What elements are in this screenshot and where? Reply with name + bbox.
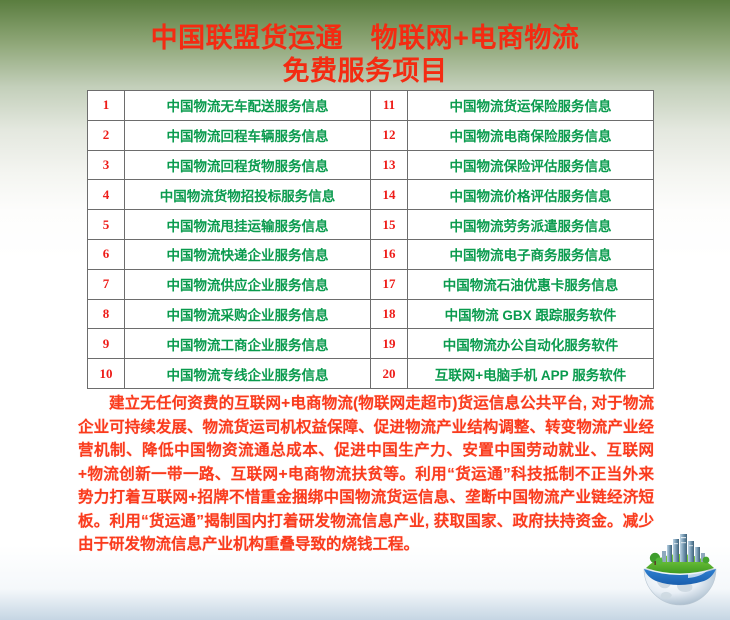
service-number-left: 8 [88,299,125,329]
title-line-1: 中国联盟货运通 物联网+电商物流 [0,22,730,55]
table-row: 7 中国物流供应企业服务信息 17 中国物流石油优惠卡服务信息 [88,269,654,299]
table-row: 3 中国物流回程货物服务信息 13 中国物流保险评估服务信息 [88,150,654,180]
service-number-right: 19 [371,329,408,359]
service-label-right[interactable]: 中国物流电子商务服务信息 [408,239,654,269]
service-number-right: 11 [371,91,408,121]
service-number-left: 6 [88,239,125,269]
service-label-left[interactable]: 中国物流货物招投标服务信息 [125,180,371,210]
service-label-left[interactable]: 中国物流回程货物服务信息 [125,150,371,180]
service-number-right: 13 [371,150,408,180]
service-label-right[interactable]: 中国物流电商保险服务信息 [408,120,654,150]
table-row: 5 中国物流甩挂运输服务信息 15 中国物流劳务派遣服务信息 [88,210,654,240]
service-number-right: 16 [371,239,408,269]
service-label-left[interactable]: 中国物流回程车辆服务信息 [125,120,371,150]
service-number-left: 10 [88,359,125,389]
table-row: 8 中国物流采购企业服务信息 18 中国物流 GBX 跟踪服务软件 [88,299,654,329]
table-row: 4 中国物流货物招投标服务信息 14 中国物流价格评估服务信息 [88,180,654,210]
service-table-body: 1 中国物流无车配送服务信息 11 中国物流货运保险服务信息 2 中国物流回程车… [88,91,654,389]
table-row: 1 中国物流无车配送服务信息 11 中国物流货运保险服务信息 [88,91,654,121]
service-label-right[interactable]: 中国物流劳务派遣服务信息 [408,210,654,240]
service-number-right: 17 [371,269,408,299]
service-number-left: 2 [88,120,125,150]
service-label-left[interactable]: 中国物流甩挂运输服务信息 [125,210,371,240]
service-number-left: 3 [88,150,125,180]
service-number-right: 20 [371,359,408,389]
service-number-left: 1 [88,91,125,121]
slide-canvas: 中国联盟货运通 物联网+电商物流 免费服务项目 1 中国物流无车配送服务信息 1… [0,0,730,620]
service-list-table: 1 中国物流无车配送服务信息 11 中国物流货运保险服务信息 2 中国物流回程车… [87,90,654,389]
service-label-left[interactable]: 中国物流供应企业服务信息 [125,269,371,299]
service-number-right: 12 [371,120,408,150]
service-number-left: 7 [88,269,125,299]
service-number-left: 9 [88,329,125,359]
service-label-right[interactable]: 中国物流石油优惠卡服务信息 [408,269,654,299]
service-label-left[interactable]: 中国物流快递企业服务信息 [125,239,371,269]
service-number-right: 18 [371,299,408,329]
table-row: 9 中国物流工商企业服务信息 19 中国物流办公自动化服务软件 [88,329,654,359]
globe-city-icon [636,527,724,615]
service-label-right[interactable]: 中国物流价格评估服务信息 [408,180,654,210]
service-label-right[interactable]: 中国物流办公自动化服务软件 [408,329,654,359]
service-label-left[interactable]: 中国物流采购企业服务信息 [125,299,371,329]
title-line-2: 免费服务项目 [0,55,730,88]
service-label-left[interactable]: 中国物流专线企业服务信息 [125,359,371,389]
page-title: 中国联盟货运通 物联网+电商物流 免费服务项目 [0,22,730,88]
table-row: 2 中国物流回程车辆服务信息 12 中国物流电商保险服务信息 [88,120,654,150]
service-label-right[interactable]: 中国物流 GBX 跟踪服务软件 [408,299,654,329]
service-label-right[interactable]: 互联网+电脑手机 APP 服务软件 [408,359,654,389]
service-number-right: 15 [371,210,408,240]
service-number-right: 14 [371,180,408,210]
description-paragraph: 建立无任何资费的互联网+电商物流(物联网走超市)货运信息公共平台, 对于物流企业… [78,392,654,557]
table-row: 6 中国物流快递企业服务信息 16 中国物流电子商务服务信息 [88,239,654,269]
service-label-right[interactable]: 中国物流保险评估服务信息 [408,150,654,180]
table-row: 10 中国物流专线企业服务信息 20 互联网+电脑手机 APP 服务软件 [88,359,654,389]
service-label-right[interactable]: 中国物流货运保险服务信息 [408,91,654,121]
service-number-left: 5 [88,210,125,240]
service-number-left: 4 [88,180,125,210]
service-label-left[interactable]: 中国物流无车配送服务信息 [125,91,371,121]
service-label-left[interactable]: 中国物流工商企业服务信息 [125,329,371,359]
